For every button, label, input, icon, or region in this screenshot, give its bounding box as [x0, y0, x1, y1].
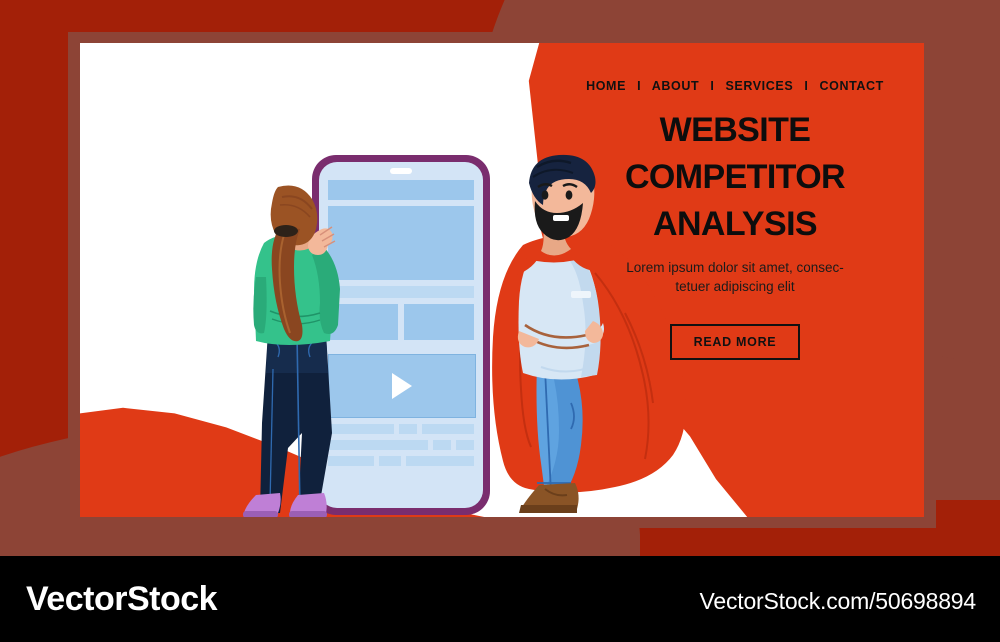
nav-item-home[interactable]: HOME — [586, 79, 626, 93]
headline-line-1: WEBSITE — [550, 107, 920, 154]
woman-illustration — [240, 183, 360, 517]
page-title: WEBSITE COMPETITOR ANALYSIS — [550, 107, 920, 248]
landing-page-card: HOME I ABOUT I SERVICES I CONTACT WEBSIT… — [80, 43, 924, 517]
nav-separator: I — [804, 79, 808, 93]
nav-separator: I — [637, 79, 641, 93]
woman-looking-at-phone — [240, 183, 360, 517]
nav-separator: I — [710, 79, 714, 93]
phone-block-row-3-b[interactable] — [379, 456, 401, 466]
phone-block-row-3-c[interactable] — [406, 456, 474, 466]
headline-line-2: COMPETITOR — [550, 154, 920, 201]
read-more-button[interactable]: READ MORE — [670, 324, 801, 360]
nav-item-about[interactable]: ABOUT — [652, 79, 699, 93]
phone-block-row-1-c[interactable] — [422, 424, 474, 434]
screenshot-root: HOME I ABOUT I SERVICES I CONTACT WEBSIT… — [0, 0, 1000, 642]
subtitle-line-2: tetuer adipiscing elit — [550, 277, 920, 296]
headline-line-3: ANALYSIS — [550, 201, 920, 248]
page-subtitle: Lorem ipsum dolor sit amet, consec- tetu… — [550, 258, 920, 296]
nav-item-services[interactable]: SERVICES — [725, 79, 793, 93]
vectorstock-logo: VectorStock — [26, 580, 217, 619]
subtitle-line-1: Lorem ipsum dolor sit amet, consec- — [550, 258, 920, 277]
phone-block-row-1-b[interactable] — [399, 424, 417, 434]
hero-text-column: HOME I ABOUT I SERVICES I CONTACT WEBSIT… — [550, 53, 920, 413]
vectorstock-url: VectorStock.com/50698894 — [700, 588, 977, 615]
navigation-menu: HOME I ABOUT I SERVICES I CONTACT — [550, 79, 920, 93]
watermark-footer: VectorStock VectorStock.com/50698894 — [0, 556, 1000, 642]
phone-block-row-2-c[interactable] — [456, 440, 474, 450]
phone-block-row-2-b[interactable] — [433, 440, 451, 450]
phone-notch-speaker — [390, 168, 412, 174]
phone-block-card-right[interactable] — [404, 304, 474, 340]
nav-item-contact[interactable]: CONTACT — [820, 79, 884, 93]
play-icon[interactable] — [392, 373, 412, 399]
